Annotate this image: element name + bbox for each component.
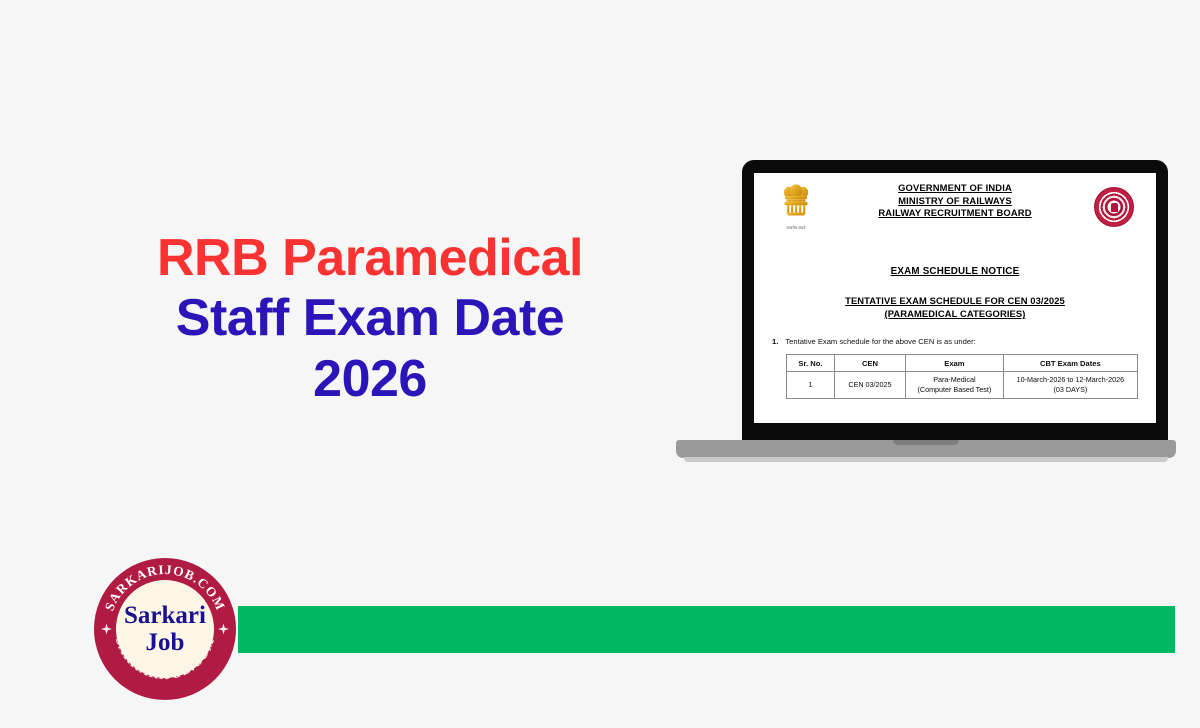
table-header-row: Sr. No. CEN Exam CBT Exam Dates [787, 355, 1138, 372]
sarkarijob-logo-badge: SARKARIJOB.COM SARKARIJOB.COM Sarkari Jo… [94, 558, 236, 700]
cell-exam: Para-Medical (Computer Based Test) [906, 372, 1004, 398]
cell-cbt-dates: 10-March-2026 to 12-March-2026 (03 DAYS) [1003, 372, 1137, 398]
cell-exam-line-2: (Computer Based Test) [917, 385, 991, 394]
notice-subtitle-block: TENTATIVE EXAM SCHEDULE FOR CEN 03/2025 … [766, 294, 1144, 320]
column-header-cbt-dates: CBT Exam Dates [1003, 355, 1137, 372]
exam-schedule-table: Sr. No. CEN Exam CBT Exam Dates 1 CEN 03… [786, 354, 1138, 398]
column-header-exam: Exam [906, 355, 1004, 372]
org-heading-line-2: MINISTRY OF RAILWAYS [818, 195, 1092, 208]
page-title-line-1: RRB Paramedical [60, 228, 680, 288]
org-heading-line-1: GOVERNMENT OF INDIA [818, 182, 1092, 195]
badge-inner-circle: Sarkari Job [116, 580, 214, 678]
railway-recruitment-board-seal-icon [1094, 187, 1134, 227]
notice-title: EXAM SCHEDULE NOTICE [891, 266, 1020, 277]
cell-dates-line-1: 10-March-2026 to 12-March-2026 [1017, 375, 1124, 384]
notice-title-block: EXAM SCHEDULE NOTICE [766, 261, 1144, 279]
point-text: Tentative Exam schedule for the above CE… [785, 337, 975, 346]
notice-point-1: 1. Tentative Exam schedule for the above… [766, 337, 1144, 346]
badge-name-line-2: Job [146, 629, 185, 656]
page-title: RRB Paramedical Staff Exam Date 2026 [60, 228, 680, 409]
notice-org-heading: GOVERNMENT OF INDIA MINISTRY OF RAILWAYS… [766, 182, 1144, 220]
column-header-sr-no: Sr. No. [787, 355, 835, 372]
laptop-screen: सत्यमेव जयते GOVERNMENT OF INDIA MINISTR… [754, 173, 1156, 423]
cell-dates-line-2: (03 DAYS) [1053, 385, 1087, 394]
exam-schedule-notice-document: सत्यमेव जयते GOVERNMENT OF INDIA MINISTR… [754, 173, 1156, 423]
exam-schedule-table-wrapper: Sr. No. CEN Exam CBT Exam Dates 1 CEN 03… [766, 354, 1144, 398]
cell-sr-no: 1 [787, 372, 835, 398]
laptop-lid: सत्यमेव जयते GOVERNMENT OF INDIA MINISTR… [742, 160, 1168, 445]
laptop-base-shadow [684, 457, 1168, 462]
notice-subtitle-line-1: TENTATIVE EXAM SCHEDULE FOR CEN 03/2025 [766, 294, 1144, 307]
emblem-caption: सत्यमेव जयते [779, 226, 813, 231]
badge-name-line-1: Sarkari [124, 602, 206, 629]
green-accent-bar [238, 606, 1175, 653]
laptop-base [676, 440, 1176, 458]
point-number: 1. [772, 337, 778, 346]
laptop-mockup: सत्यमेव जयते GOVERNMENT OF INDIA MINISTR… [676, 160, 1176, 470]
page-title-line-3: 2026 [60, 349, 680, 409]
india-national-emblem-icon: सत्यमेव जयते [779, 184, 813, 231]
notice-header: सत्यमेव जयते GOVERNMENT OF INDIA MINISTR… [766, 182, 1144, 244]
cell-exam-line-1: Para-Medical [933, 375, 975, 384]
org-heading-line-3: RAILWAY RECRUITMENT BOARD [818, 207, 1092, 220]
table-row: 1 CEN 03/2025 Para-Medical (Computer Bas… [787, 372, 1138, 398]
cell-cen: CEN 03/2025 [834, 372, 905, 398]
seal-inner-mark [1107, 200, 1122, 215]
page-title-line-2: Staff Exam Date [60, 288, 680, 348]
column-header-cen: CEN [834, 355, 905, 372]
notice-subtitle-line-2: (PARAMEDICAL CATEGORIES) [766, 307, 1144, 320]
